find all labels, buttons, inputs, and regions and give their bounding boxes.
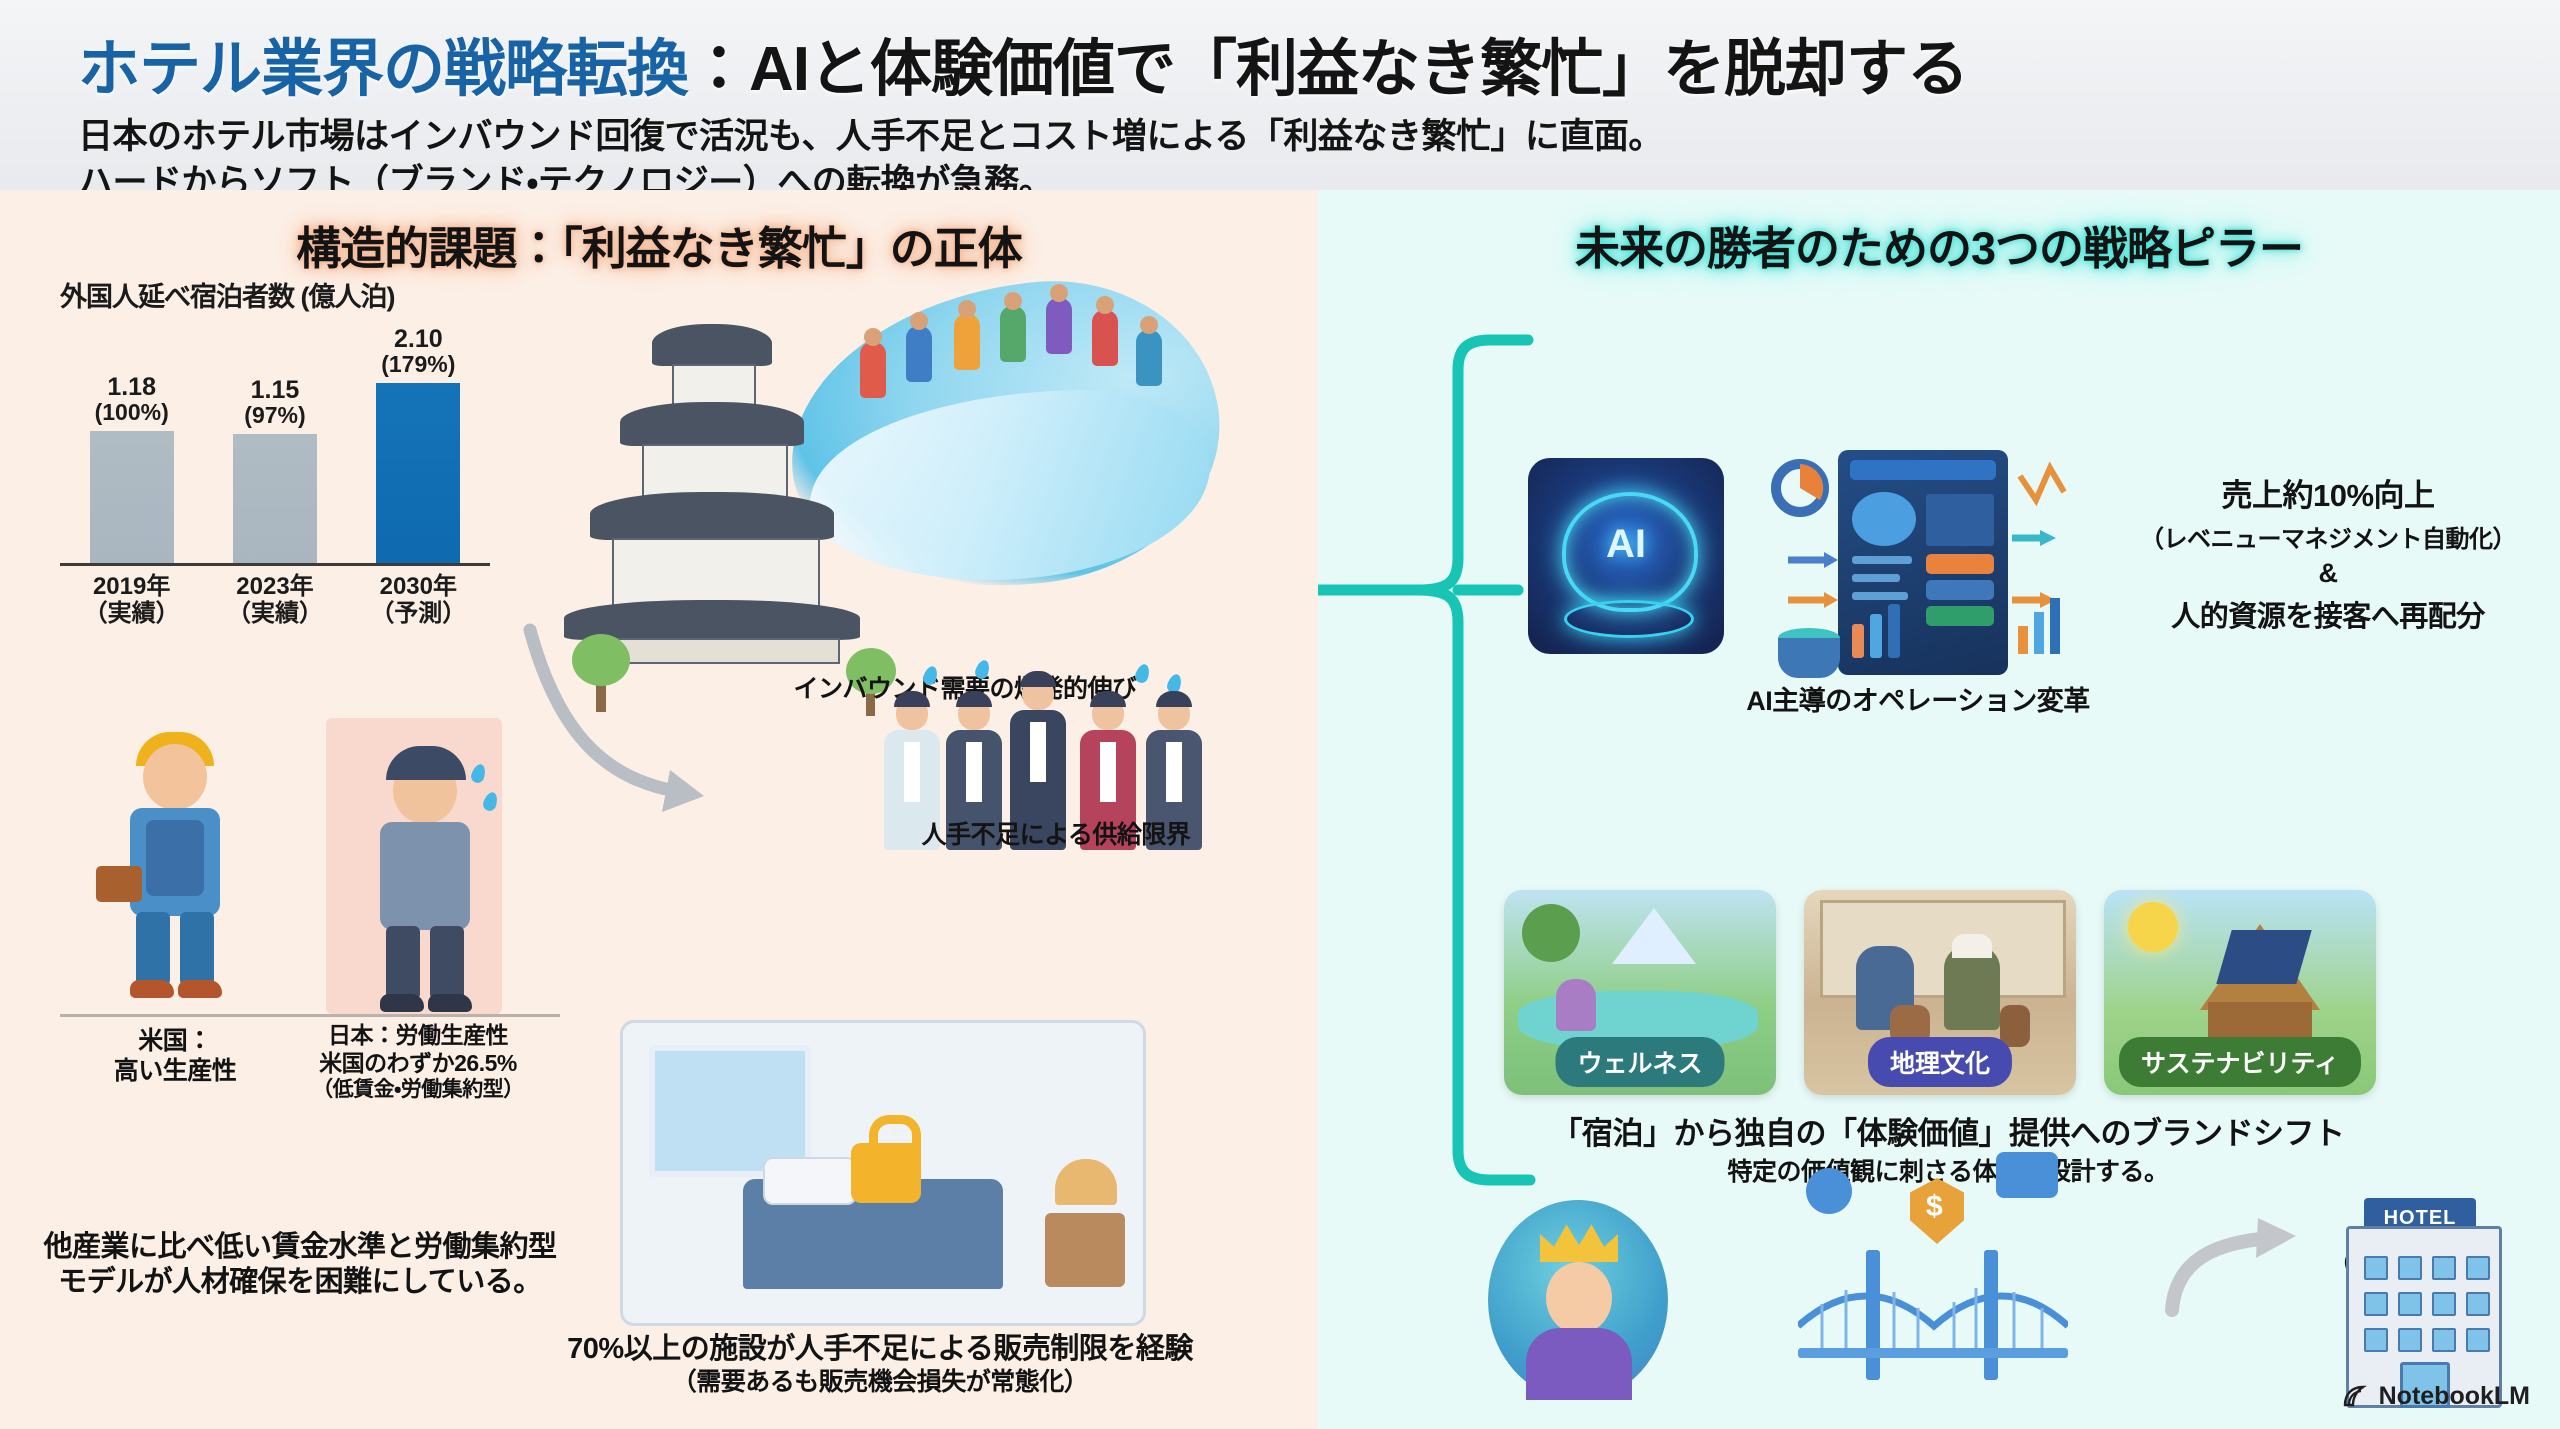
chart-title: 外国人延べ宿泊者数 (億人泊) bbox=[60, 275, 490, 314]
jp-productivity-line2: 米国のわずか26.5% bbox=[278, 1050, 558, 1078]
jp-productivity-line3: （低賃金・労働集約型） bbox=[278, 1077, 558, 1102]
pillar1-result-line3: & bbox=[2108, 558, 2548, 589]
crown-icon bbox=[1540, 1222, 1618, 1262]
right-panel-heading: 未来の勝者のための3つの戦略ピラー bbox=[1318, 212, 2560, 277]
chart-x-tick-note: （実績） bbox=[77, 601, 187, 628]
chart-percent-label: (97%) bbox=[244, 403, 305, 427]
pillow-icon bbox=[763, 1157, 857, 1205]
ai-label: AI bbox=[1528, 522, 1724, 567]
pillar2-subline: 特定の価値観に刺さる体験を設計する。 bbox=[1518, 1152, 2378, 1188]
japan-worker-icon bbox=[350, 730, 500, 1010]
chart-x-tick-labels: 2019年 （実績） 2023年 （実績） 2030年 （予測） bbox=[60, 574, 490, 628]
pillar1-caption: AI主導のオペレーション変革 bbox=[1708, 685, 2128, 717]
chart-bar-2023 bbox=[233, 434, 317, 566]
experience-card-sustainability: サステナビリティ bbox=[2104, 890, 2376, 1095]
chart-percent-label: (179%) bbox=[381, 352, 455, 376]
lock-icon bbox=[851, 1143, 921, 1203]
productivity-note: 他産業に比べ低い賃金水準と労働集約型 モデルが人材確保を困難にしている。 bbox=[20, 1230, 580, 1300]
notebooklm-label: NotebookLM bbox=[2379, 1382, 2530, 1411]
page-title-primary: ホテル業界の戦略転換 bbox=[78, 35, 688, 104]
experience-card-wellness: ウェルネス bbox=[1504, 890, 1776, 1095]
japan-productivity-label: 日本：労働生産性 米国のわずか26.5% （低賃金・労働集約型） bbox=[278, 1022, 558, 1102]
lamp-icon bbox=[1055, 1159, 1117, 1205]
pillar1-result-line2: （レベニューマネジメント自動化） bbox=[2108, 519, 2548, 554]
locked-room-illustration bbox=[620, 1020, 1146, 1326]
page-title-secondary: ：AIと体験価値で「利益なき繁忙」を脱却する bbox=[688, 35, 1968, 104]
face-icon bbox=[1546, 1262, 1612, 1334]
page-title: ホテル業界の戦略転換：AIと体験価値で「利益なき繁忙」を脱却する bbox=[78, 18, 2560, 108]
overworked-staff-illustration: 人手不足による供給限界 bbox=[880, 660, 1220, 850]
productivity-note-line1: 他産業に比べ低い賃金水準と労働集約型 bbox=[20, 1230, 580, 1265]
nightstand-icon bbox=[1045, 1213, 1125, 1287]
ai-brain-tile: AI bbox=[1528, 458, 1724, 654]
tourist-crowd-icon bbox=[850, 280, 1180, 430]
card-badge: 地理文化 bbox=[1868, 1037, 2012, 1087]
page-header: ホテル業界の戦略転換：AIと体験価値で「利益なき繁忙」を脱却する 日本のホテル市… bbox=[0, 0, 2560, 190]
pillar1-result: 売上約10%向上 （レベニューマネジメント自動化） & 人的資源を接客へ再配分 bbox=[2108, 470, 2548, 635]
productivity-note-line2: モデルが人材確保を困難にしている。 bbox=[20, 1265, 580, 1300]
page-subtitle-line1: 日本のホテル市場はインバウンド回復で活況も、人手不足とコスト増による「利益なき繁… bbox=[78, 114, 2560, 160]
us-productivity-line1: 米国： bbox=[80, 1026, 270, 1056]
hologram-ring-icon bbox=[1564, 600, 1694, 638]
chart-x-tick-name: 2030年 bbox=[363, 574, 473, 601]
chart-x-tick: 2030年 （予測） bbox=[363, 574, 473, 628]
chart-value-label: 1.18 bbox=[107, 373, 156, 401]
chart-percent-label: (100%) bbox=[95, 400, 169, 424]
chart-x-tick-note: （実績） bbox=[220, 601, 330, 628]
productivity-comparison-illustration: 米国： 高い生産性 日本：労働生産性 米国のわずか26.5% （低賃金・労働集約… bbox=[60, 690, 560, 1130]
chart-bar-column: 1.15 (97%) bbox=[220, 326, 330, 566]
chart-bar-label: 1.15 (97%) bbox=[244, 377, 305, 427]
ai-dashboard-illustration bbox=[1768, 440, 2068, 690]
us-worker-icon bbox=[100, 716, 250, 996]
chart-x-tick: 2023年 （実績） bbox=[220, 574, 330, 628]
chart-plot-area: 1.18 (100%) 1.15 (97%) bbox=[60, 326, 490, 566]
infographic-root: ホテル業界の戦略転換：AIと体験価値で「利益なき繁忙」を脱却する 日本のホテル市… bbox=[0, 0, 2560, 1429]
experience-card-culture: 地理文化 bbox=[1804, 890, 2076, 1095]
chart-bar-label: 2.10 (179%) bbox=[381, 326, 455, 376]
hotel-building-icon: HOTEL bbox=[2328, 1190, 2518, 1405]
chart-bar-column: 1.18 (100%) bbox=[77, 326, 187, 566]
jp-productivity-line1: 日本：労働生産性 bbox=[278, 1022, 558, 1050]
inbound-bar-chart: 外国人延べ宿泊者数 (億人泊) 1.18 (100%) 1.15 (97%) bbox=[60, 275, 490, 635]
chart-x-tick-name: 2023年 bbox=[220, 574, 330, 601]
chart-bars: 1.18 (100%) 1.15 (97%) bbox=[60, 326, 490, 566]
chart-x-axis bbox=[60, 563, 490, 566]
pillar1-result-line4: 人的資源を接客へ再配分 bbox=[2108, 593, 2548, 635]
chart-bar-label: 1.18 (100%) bbox=[95, 374, 169, 424]
direct-channel-bridge-icon: $ bbox=[1798, 1230, 2068, 1380]
room-restriction-note: 70%以上の施設が人手不足による販売制限を経験 （需要あるも販売機会損失が常態化… bbox=[560, 1332, 1200, 1397]
chart-bar-column: 2.10 (179%) bbox=[363, 326, 473, 566]
ota-leak-arrow-icon bbox=[2158, 1210, 2308, 1320]
body-icon bbox=[1526, 1328, 1632, 1400]
room-restriction-line2: （需要あるも販売機会損失が常態化） bbox=[560, 1367, 1200, 1397]
chart-bar-2030 bbox=[376, 383, 460, 566]
us-productivity-line2: 高い生産性 bbox=[80, 1056, 270, 1086]
pillar2-headline: 「宿泊」から独自の「体験価値」提供へのブランドシフト bbox=[1438, 1108, 2458, 1153]
chart-x-tick-note: （予測） bbox=[363, 601, 473, 628]
chart-bar-2019 bbox=[90, 431, 174, 566]
room-restriction-line1: 70%以上の施設が人手不足による販売制限を経験 bbox=[560, 1332, 1200, 1367]
chart-value-label: 1.15 bbox=[251, 376, 300, 404]
chart-x-tick: 2019年 （実績） bbox=[77, 574, 187, 628]
right-panel: 未来の勝者のための3つの戦略ピラー AI bbox=[1318, 190, 2560, 1429]
notebooklm-logo-icon bbox=[2339, 1381, 2369, 1411]
staff-shortage-caption: 人手不足による供給限界 bbox=[880, 820, 1220, 850]
card-badge: サステナビリティ bbox=[2119, 1037, 2361, 1087]
japanese-castle-icon bbox=[560, 320, 860, 660]
chart-x-tick-name: 2019年 bbox=[77, 574, 187, 601]
notebooklm-watermark: NotebookLM bbox=[2339, 1381, 2530, 1411]
us-productivity-label: 米国： 高い生産性 bbox=[80, 1026, 270, 1086]
pillar1-result-line1: 売上約10%向上 bbox=[2108, 470, 2548, 515]
loyalty-customer-avatar bbox=[1488, 1200, 1668, 1400]
card-badge: ウェルネス bbox=[1555, 1037, 1724, 1087]
left-panel: 構造的課題：「利益なき繁忙」の正体 外国人延べ宿泊者数 (億人泊) 1.18 (… bbox=[0, 190, 1318, 1429]
chart-value-label: 2.10 bbox=[394, 325, 443, 353]
